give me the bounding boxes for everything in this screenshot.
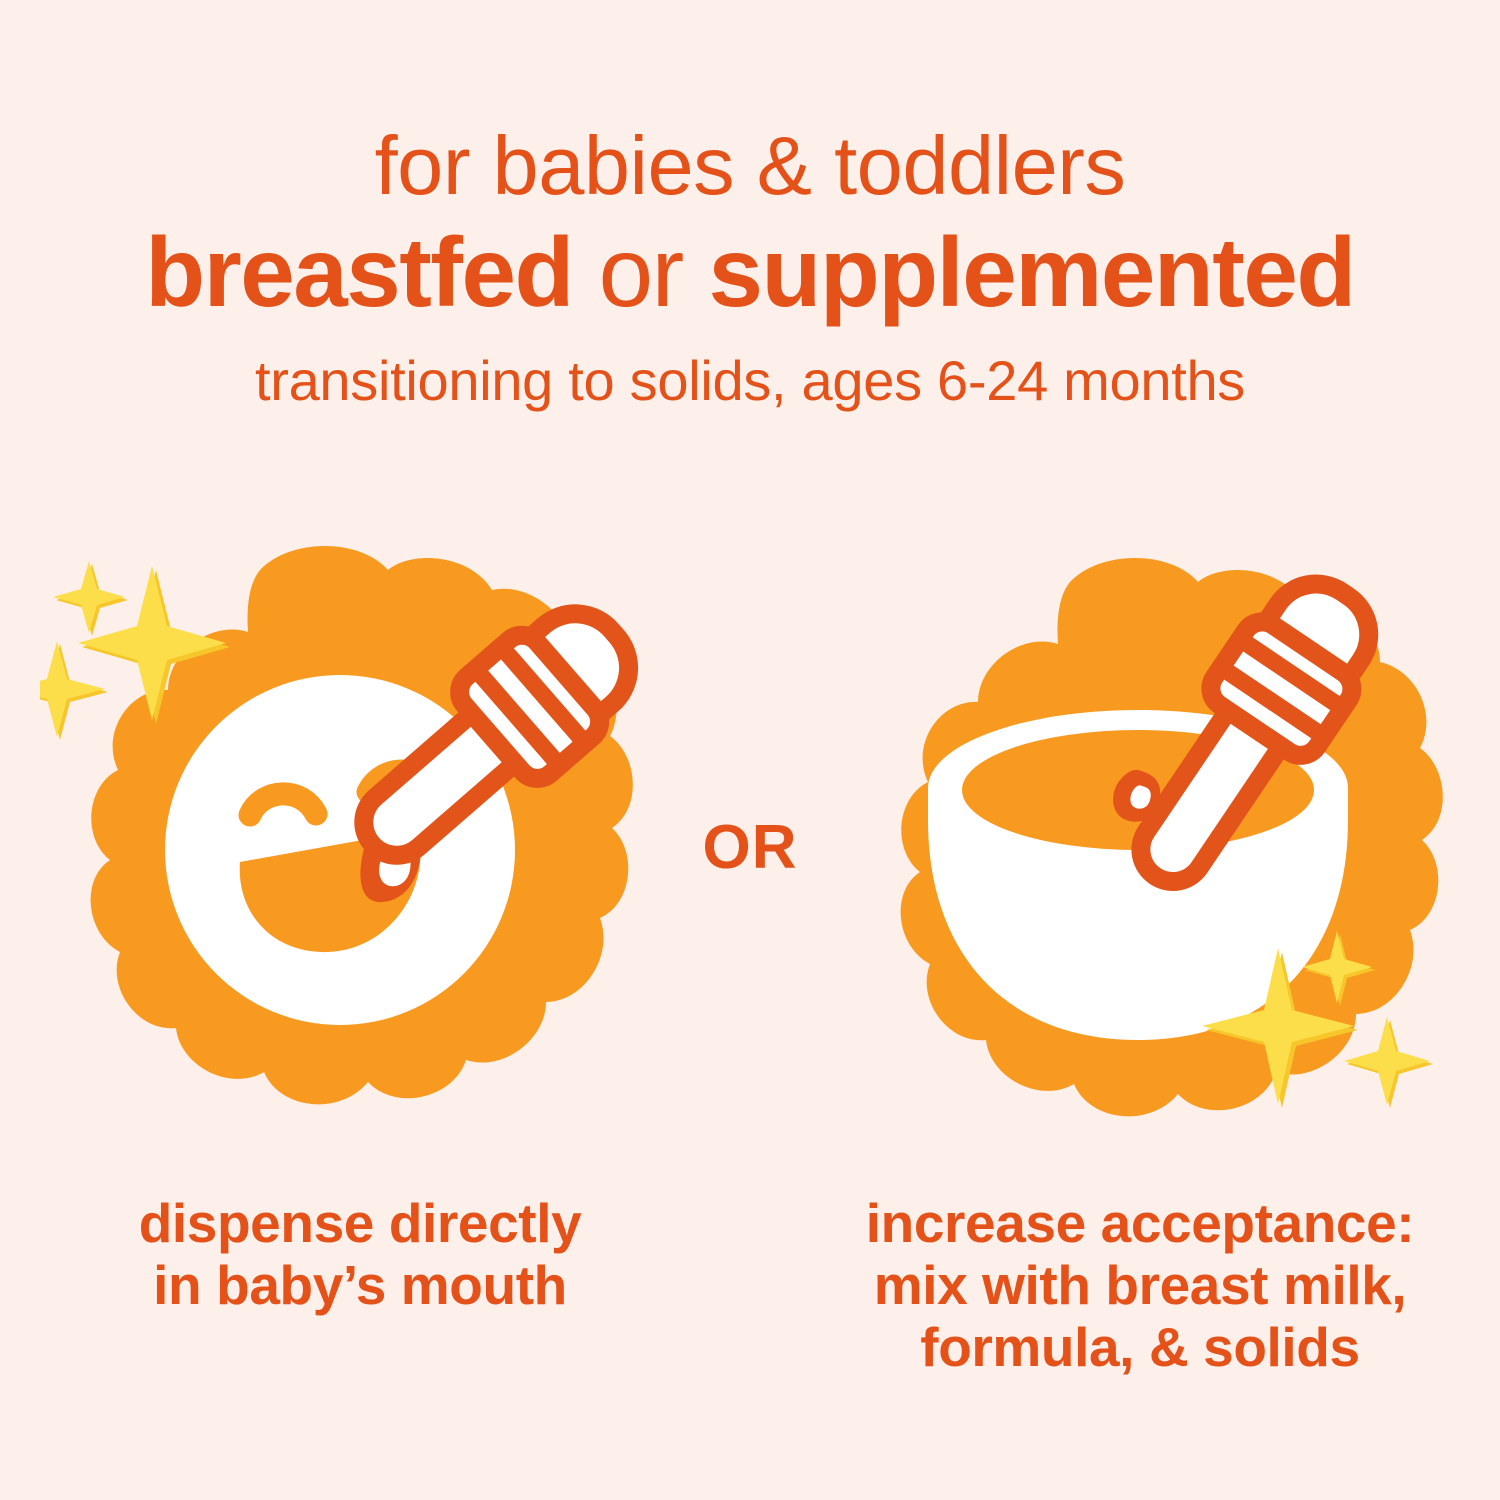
header-line-2: breastfed or supplemented [0, 216, 1500, 328]
sparkle-small-bottom-icon [40, 641, 105, 737]
header-line-1: for babies & toddlers [0, 118, 1500, 214]
sparkle-small-top-icon [53, 561, 125, 633]
panel-mix-into-food [820, 520, 1460, 1180]
header-line-2-emphasis-2: supplemented [708, 217, 1354, 327]
smiling-face-with-dropper-icon [40, 520, 680, 1180]
header-text-block: for babies & toddlers breastfed or suppl… [0, 0, 1500, 416]
caption-mix-into-food: increase acceptance: mix with breast mil… [820, 1192, 1460, 1378]
header-line-3-subtitle: transitioning to solids, ages 6-24 month… [0, 346, 1500, 416]
header-line-2-emphasis-1: breastfed [145, 217, 573, 327]
panel-dispense-directly [40, 520, 680, 1180]
or-divider-label: OR [660, 812, 840, 883]
bowl-with-dropper-icon [820, 520, 1460, 1180]
header-line-2-conjunction: or [599, 217, 683, 327]
caption-dispense-directly: dispense directly in baby’s mouth [40, 1192, 680, 1316]
